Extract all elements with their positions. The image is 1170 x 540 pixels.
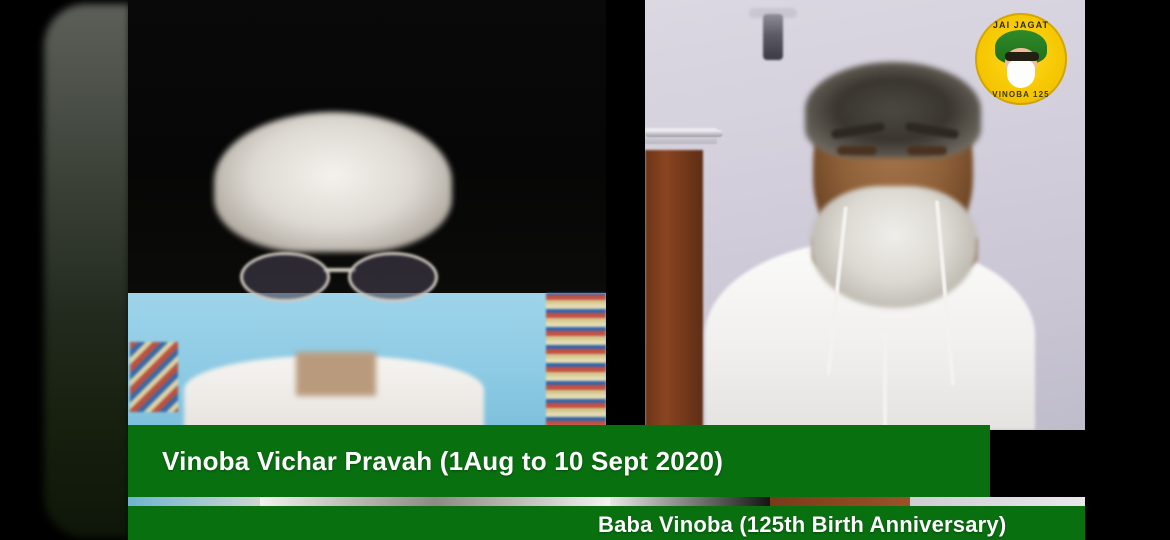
primary-caption-text: Vinoba Vichar Pravah (1Aug to 10 Sept 20…: [162, 446, 723, 477]
logo-white-beard: [1007, 60, 1035, 88]
ceiling-lamp-fixture: [763, 14, 783, 60]
video-call-screenshot: JAI JAGAT VINOBA 125 Vinoba Vichar Prava…: [0, 0, 1170, 540]
video-sliver-between-captions: [128, 497, 1085, 506]
left-patterned-curtain: [546, 293, 606, 430]
eyeglass-lens-left: [240, 252, 330, 302]
video-pane-right-participant[interactable]: JAI JAGAT VINOBA 125: [645, 0, 1085, 430]
jai-jagat-logo-icon: JAI JAGAT VINOBA 125: [975, 13, 1067, 105]
vinoba-portrait-icon: [993, 30, 1049, 88]
eyeglass-lens-right: [348, 252, 438, 302]
logo-top-text: JAI JAGAT: [975, 20, 1067, 30]
left-wall-poster: [130, 342, 178, 412]
sliver-seg-5: [910, 497, 1085, 506]
sliver-seg-1: [128, 497, 260, 506]
right-participant-hair: [805, 62, 981, 158]
logo-spectacles-icon: [1005, 52, 1039, 61]
sliver-seg-4: [770, 497, 910, 506]
video-pane-left-participant[interactable]: [128, 0, 606, 430]
right-participant-eye-left: [837, 146, 877, 155]
right-participant-eye-right: [907, 146, 947, 155]
left-participant-eyeglasses: [240, 252, 438, 298]
blurred-backdrop-panel: [44, 4, 130, 538]
left-participant-hair: [214, 112, 452, 252]
right-wooden-door: [645, 150, 703, 430]
secondary-caption-text: Baba Vinoba (125th Birth Anniversary): [598, 512, 1006, 538]
right-wall-rail: [645, 130, 723, 137]
earphone-cord-lower: [883, 330, 887, 430]
sliver-seg-3: [610, 497, 770, 506]
logo-bottom-text: VINOBA 125: [975, 90, 1067, 99]
sliver-seg-2: [260, 497, 610, 506]
